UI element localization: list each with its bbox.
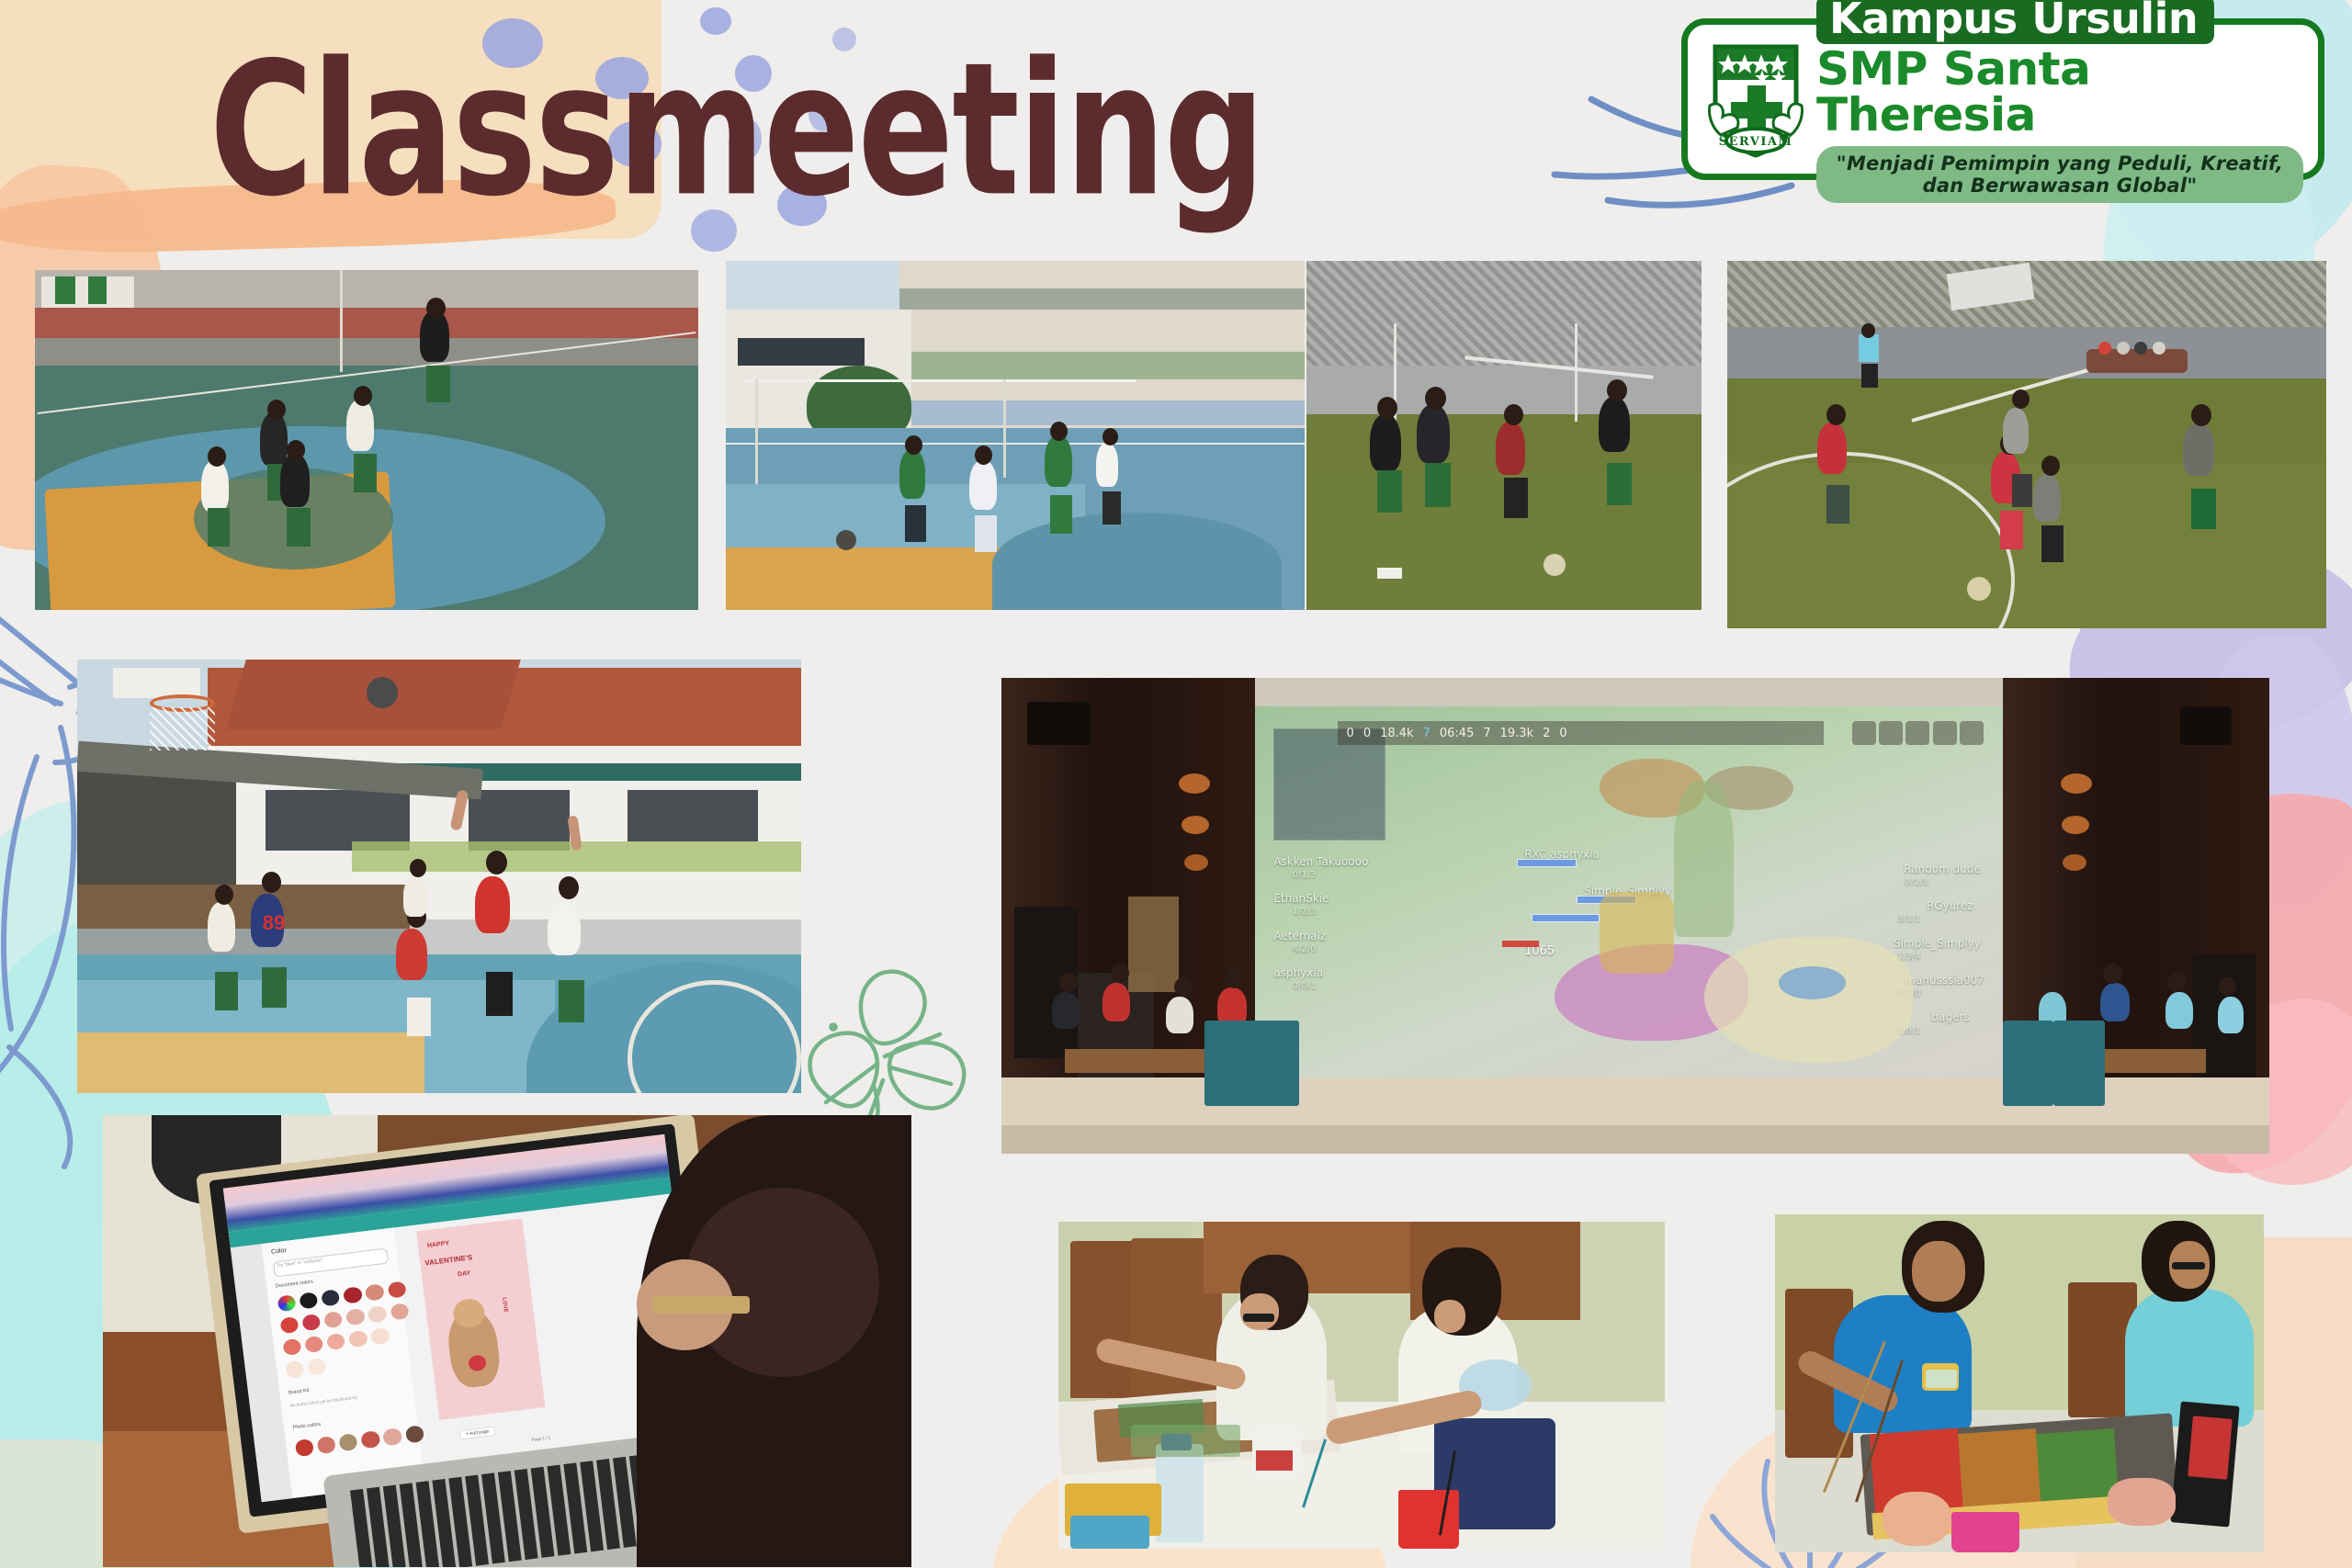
list-icon[interactable] — [1933, 721, 1957, 745]
player-name-left-2: EthanSkie — [1273, 892, 1329, 905]
player-name-left-1: Askken Takuoooo — [1273, 855, 1368, 868]
hud-left-gold: 18.4k — [1380, 727, 1413, 740]
logo-motto: "Menjadi Pemimpin yang Peduli, Kreatif, … — [1816, 146, 2303, 203]
settings-gear-icon[interactable] — [1852, 721, 1876, 745]
svg-text:SERVIAM: SERVIAM — [1719, 135, 1793, 149]
pause-icon[interactable] — [1905, 721, 1929, 745]
hud-right-turrets: 2 — [1543, 727, 1550, 740]
hud-right-gold: 19.3k — [1500, 727, 1533, 740]
player-name-left-3: Aeternalz — [1273, 930, 1326, 942]
player-kda-left-3: 4/2/0 — [1293, 944, 1317, 954]
player-name-left-4: asphyxia — [1273, 966, 1323, 979]
game-hud-scorebar: 0 0 18.4k 7 06:45 7 19.3k 2 0 — [1338, 721, 1824, 745]
hud-left-score: 7 — [1423, 727, 1430, 740]
photo-basketball-jumpball: 89 — [77, 660, 801, 1093]
player-kda-left-1: 0/1/3 — [1293, 870, 1317, 880]
projection-screen: 0 0 18.4k 7 06:45 7 19.3k 2 0 Askken Tak… — [1255, 706, 2003, 1077]
hud-timer: 06:45 — [1440, 727, 1474, 740]
player-name-right-3: Simple_Simplyy — [1894, 937, 1981, 950]
jersey-number: 89 — [263, 911, 285, 935]
design-text-love: LOVE — [501, 1297, 508, 1313]
photo-painting-class-2 — [1775, 1214, 2264, 1552]
basketball — [367, 677, 398, 708]
photo-volleyball-match — [726, 261, 1305, 610]
hud-right-score: 7 — [1483, 727, 1490, 740]
logo-line-kampus-ursulin: Kampus Ursulin — [1816, 0, 2214, 44]
player-name-right-5: bagers — [1931, 1010, 1969, 1023]
photo-painting-class-1 — [1058, 1222, 1665, 1549]
player-kda-left-2: 1/2/3 — [1293, 907, 1317, 917]
page-count-label: Page 1 / 1 — [531, 1436, 550, 1442]
school-logo-badge: SERVIAM Kampus Ursulin SMP Santa Theresi… — [1681, 18, 2324, 180]
player-kda-left-4: 0/0/1 — [1293, 981, 1317, 991]
player-name-right-4: manusssia007 — [1905, 974, 1984, 987]
hud-right-kills: 0 — [1559, 727, 1566, 740]
hud-left-kills: 0 — [1347, 727, 1354, 740]
player-kda-right-2: 3/1/1 — [1897, 914, 1921, 924]
hud-left-turrets: 0 — [1363, 727, 1371, 740]
player-name-right-1: Random dude — [1904, 863, 1981, 875]
photo-laptop-design: Color Try "blue" or "#00c4cc" Document c… — [103, 1115, 911, 1567]
photo-futsal-match-2 — [1727, 261, 2326, 628]
add-page-button[interactable]: + Add page — [458, 1427, 495, 1440]
graph-icon[interactable] — [1879, 721, 1903, 745]
player-name-right-2: RGyurez — [1927, 899, 1973, 912]
photo-esports-hall: 0 0 18.4k 7 06:45 7 19.3k 2 0 Askken Tak… — [1001, 678, 2269, 1154]
photo-futsal-match-1 — [1306, 261, 1702, 610]
player-kda-right-1: 0/1/3 — [1905, 877, 1928, 887]
logo-line-smp-santa-theresia: SMP Santa Theresia — [1816, 46, 2303, 138]
serviam-crest-icon: SERVIAM — [1704, 39, 1807, 159]
page-title: Classmeeting — [209, 39, 1263, 222]
game-minimap — [1273, 728, 1385, 840]
chevron-down-icon[interactable] — [1960, 721, 1984, 745]
photo-basketball-court-overview — [35, 270, 698, 610]
